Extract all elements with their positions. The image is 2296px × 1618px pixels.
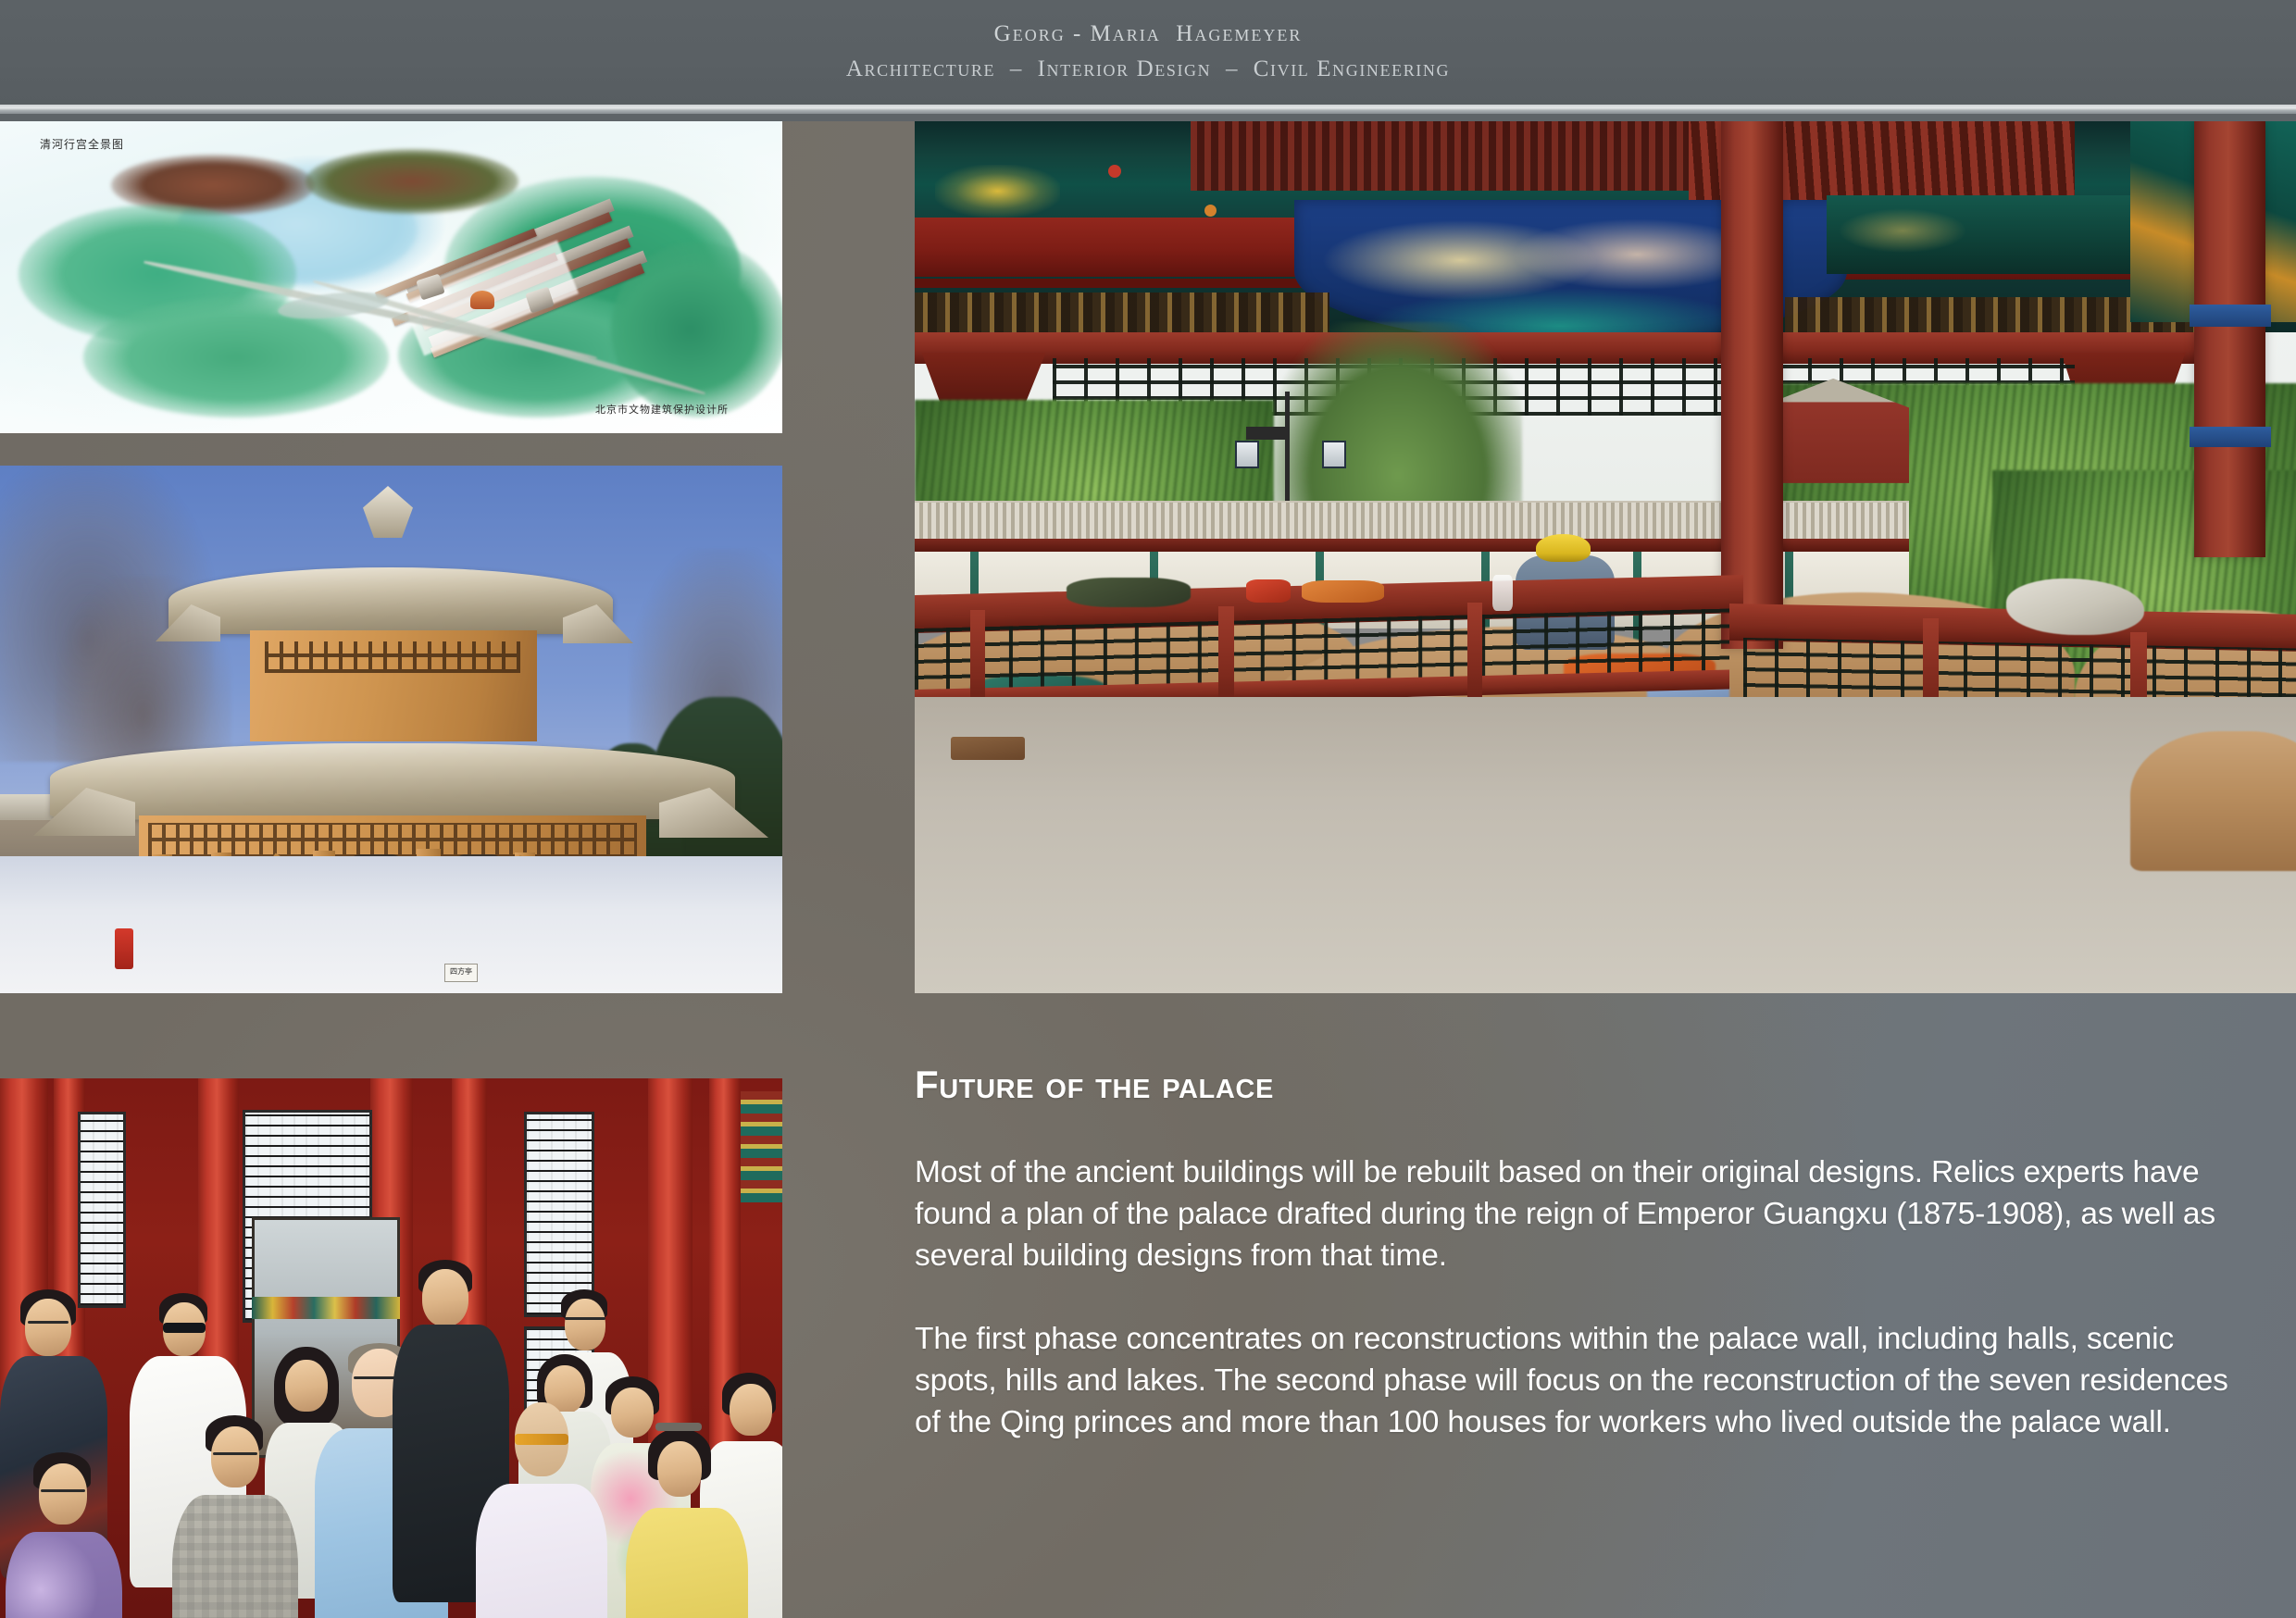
ceiling-red-band-left (915, 218, 1329, 277)
body-paragraph-1: Most of the ancient buildings will be re… (915, 1151, 2229, 1276)
pavilion-upper-lattice (265, 641, 520, 673)
header-divider-shadow (0, 114, 2296, 121)
person-12-amber-sunglasses (515, 1434, 568, 1445)
brick-on-floor (951, 737, 1026, 759)
person-3-head (285, 1360, 328, 1412)
image-group-photo (0, 1078, 782, 1618)
body-paragraph-2: The first phase concentrates on reconstr… (915, 1318, 2229, 1443)
person-1-glasses (28, 1321, 69, 1324)
person-13-torso (626, 1508, 748, 1618)
temple-window-3 (524, 1112, 594, 1317)
column-blue-band (2190, 305, 2271, 327)
header-name: Georg - Maria Hagemeyer (994, 21, 1303, 48)
worker-yellow-helmet (1536, 534, 1590, 562)
tool-bag-on-rail (1067, 578, 1191, 607)
person-10-torso (6, 1532, 122, 1618)
text-content-block: Future of the palace Most of the ancient… (915, 1064, 2239, 1443)
pavilion-lower-roof (50, 743, 735, 819)
person-5-head (422, 1269, 468, 1326)
column-blue-band-2 (2190, 427, 2271, 448)
ceiling-green-panel (1827, 195, 2130, 274)
pavilion-column-center (1721, 121, 1783, 649)
person-13-head (657, 1441, 702, 1497)
lantern-left (1235, 441, 1259, 468)
temple-eave-detail (741, 1091, 782, 1202)
ceiling-gold-motif (935, 165, 1059, 218)
person-11-head (211, 1426, 259, 1487)
person-10-glasses (41, 1489, 85, 1492)
section-heading: Future of the palace (915, 1064, 2239, 1105)
orange-items-on-rail (1302, 580, 1385, 603)
water-bottle-on-rail (1492, 575, 1513, 612)
lamp-crossarm (1246, 427, 1289, 440)
pavilion-terrace-floor (915, 697, 2296, 993)
site-plan-pavilion-c (470, 291, 494, 309)
person-6-head (565, 1299, 605, 1350)
header-disciplines: Architecture – Interior Design – Civil E… (846, 56, 1450, 83)
image-main-pavilion-interior (915, 121, 2296, 993)
person-13-hair-sunglasses (655, 1423, 702, 1431)
pavilion-upper-roof (168, 567, 613, 634)
pavilion-column-right (2194, 121, 2266, 557)
person-1-head (25, 1299, 71, 1356)
site-plan-credit-cjk: 北京市文物建筑保护设计所 (595, 404, 729, 415)
ceiling-red-edge-left (915, 279, 1302, 288)
red-tool-on-rail (1246, 579, 1291, 602)
person-11-torso (172, 1495, 298, 1618)
person-8-head (611, 1388, 654, 1438)
person-12-torso (476, 1484, 607, 1618)
pavilion-name-sign: 四方亭 (444, 964, 478, 982)
site-plan-caption-cjk: 清河行宫全景图 (40, 139, 124, 150)
ceiling-blossom-1 (1108, 165, 1121, 178)
person-2-sunglasses (163, 1323, 206, 1333)
earth-mound-foreground-right (2130, 731, 2296, 871)
temple-window-1 (78, 1112, 126, 1308)
temple-painted-frieze (252, 1297, 400, 1319)
snow-ground (0, 856, 782, 993)
person-11-glasses (213, 1452, 257, 1455)
person-10-head (39, 1463, 87, 1525)
person-6-glasses (565, 1317, 605, 1320)
lantern-right (1322, 441, 1346, 468)
person-9-head (730, 1384, 772, 1436)
page-header: Georg - Maria Hagemeyer Architecture – I… (0, 0, 2296, 105)
red-object-on-snow (115, 928, 133, 969)
slide-canvas: Georg - Maria Hagemeyer Architecture – I… (0, 0, 2296, 1618)
image-timber-pavilion: 四方亭 (0, 466, 782, 993)
header-divider-rule (0, 105, 2296, 114)
image-site-plan: 清河行宫全景图 北京市文物建筑保护设计所 (0, 121, 782, 433)
